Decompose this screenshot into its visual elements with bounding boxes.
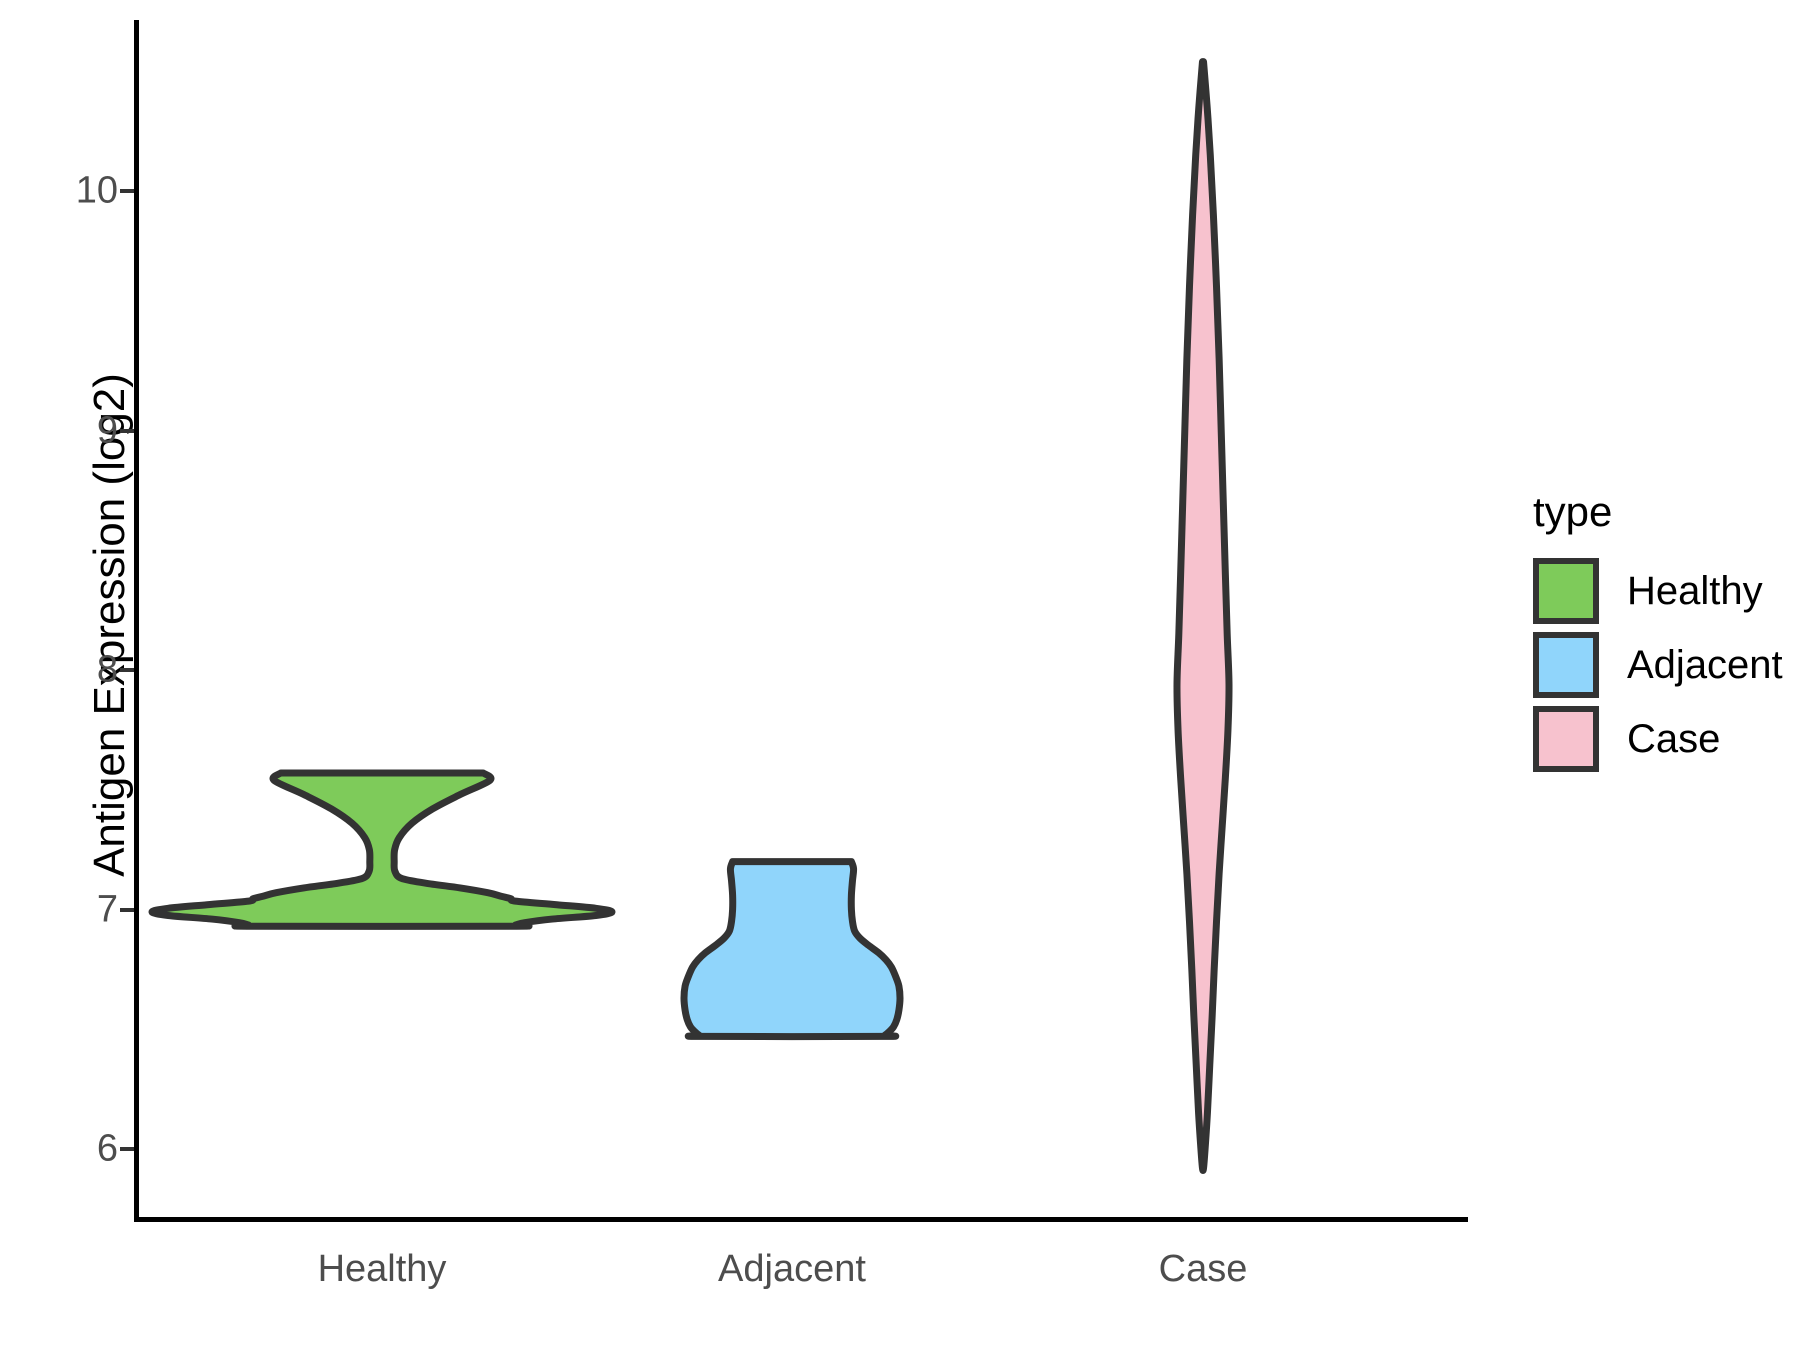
x-axis-line: [134, 1217, 1468, 1222]
y-tick-label-7: 7: [18, 888, 118, 931]
x-tick-label-case: Case: [1159, 1248, 1248, 1291]
legend-label-case: Case: [1627, 717, 1720, 762]
x-tick-label-adjacent: Adjacent: [718, 1248, 866, 1291]
violin-case: [1177, 62, 1229, 1171]
violin-series: [139, 20, 1468, 1217]
legend-title: type: [1533, 488, 1783, 536]
y-tick-mark-8: [120, 668, 135, 672]
x-tick-label-healthy: Healthy: [318, 1248, 447, 1291]
legend-entry-adjacent[interactable]: Adjacent: [1533, 628, 1783, 702]
y-tick-label-9: 9: [18, 409, 118, 452]
legend-swatch-case: [1533, 706, 1599, 772]
legend-label-adjacent: Adjacent: [1627, 643, 1783, 688]
legend-label-healthy: Healthy: [1627, 569, 1763, 614]
legend-swatch-adjacent: [1533, 632, 1599, 698]
y-tick-mark-7: [120, 908, 135, 912]
y-tick-label-8: 8: [18, 649, 118, 692]
plot-panel: [139, 20, 1468, 1217]
y-axis-tick-labels: 109876: [0, 0, 118, 1350]
legend-entry-healthy[interactable]: Healthy: [1533, 554, 1783, 628]
violin-healthy: [152, 773, 612, 926]
y-tick-label-10: 10: [18, 170, 118, 213]
legend-swatch-healthy: [1533, 558, 1599, 624]
y-tick-mark-6: [120, 1147, 135, 1151]
y-tick-mark-9: [120, 429, 135, 433]
legend-entry-case[interactable]: Case: [1533, 702, 1783, 776]
violin-adjacent: [684, 862, 900, 1037]
legend-entries: HealthyAdjacentCase: [1533, 554, 1783, 776]
y-tick-label-6: 6: [18, 1128, 118, 1171]
legend: type HealthyAdjacentCase: [1533, 488, 1783, 776]
chart-root: Antigen Expression (log2) 109876 Healthy…: [0, 0, 1800, 1350]
y-tick-mark-10: [120, 189, 135, 193]
